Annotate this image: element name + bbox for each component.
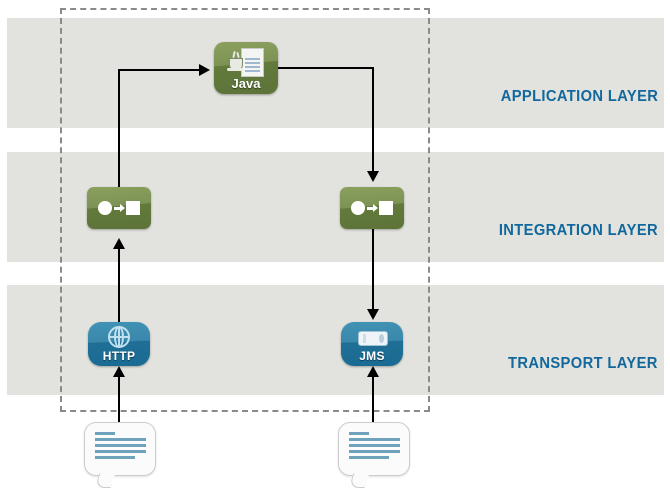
connector-endpoint-to-java-vertical xyxy=(118,69,120,187)
arrowhead-message-to-http xyxy=(113,366,125,377)
message-text-lines xyxy=(95,432,146,462)
jms-transport-label: JMS xyxy=(341,349,403,363)
arrow-glyph-head xyxy=(120,204,125,212)
connector-message-to-jms xyxy=(372,376,374,422)
square-glyph xyxy=(126,201,140,215)
message-bubble-inbound[interactable] xyxy=(84,422,156,476)
layer-label-transport: TRANSPORT LAYER xyxy=(508,355,658,373)
arrowhead-java-to-endpoint xyxy=(367,171,379,182)
globe-icon xyxy=(108,326,130,348)
integration-endpoint-outbound-icon[interactable] xyxy=(340,187,404,229)
java-component-label: Java xyxy=(214,76,278,91)
integration-endpoint-inbound-icon[interactable] xyxy=(87,187,151,229)
arrowhead-endpoint-to-jms xyxy=(367,309,379,320)
connector-endpoint-to-jms xyxy=(372,229,374,309)
bubble-tail xyxy=(349,473,370,488)
message-bubble-outbound[interactable] xyxy=(338,422,410,476)
arrowhead-http-to-endpoint xyxy=(113,238,125,249)
coffee-cup-glyph xyxy=(227,51,244,71)
bubble-tail xyxy=(95,473,116,488)
message-text-lines xyxy=(349,432,400,462)
connector-java-to-endpoint-vertical xyxy=(372,67,374,171)
jms-transport-icon[interactable]: JMS xyxy=(341,322,403,366)
connector-java-to-endpoint-horizontal xyxy=(278,67,374,69)
layer-label-integration: INTEGRATION LAYER xyxy=(499,222,658,240)
connector-endpoint-to-java-horizontal xyxy=(118,69,200,71)
queue-cylinder-icon xyxy=(358,331,388,346)
arrow-glyph-head xyxy=(373,204,378,212)
http-transport-icon[interactable]: HTTP xyxy=(88,322,150,366)
java-component-icon[interactable]: Java xyxy=(214,42,278,94)
circle-glyph xyxy=(98,201,112,215)
arrowhead-message-to-jms xyxy=(367,366,379,377)
architecture-diagram: APPLICATION LAYER INTEGRATION LAYER TRAN… xyxy=(0,0,670,477)
http-transport-label: HTTP xyxy=(88,349,150,363)
circle-glyph xyxy=(351,201,365,215)
document-glyph xyxy=(241,48,264,77)
connector-message-to-http xyxy=(118,376,120,422)
arrowhead-endpoint-to-java xyxy=(199,64,210,76)
layer-label-application: APPLICATION LAYER xyxy=(500,88,658,106)
square-glyph xyxy=(379,201,393,215)
connector-http-to-endpoint xyxy=(118,248,120,324)
